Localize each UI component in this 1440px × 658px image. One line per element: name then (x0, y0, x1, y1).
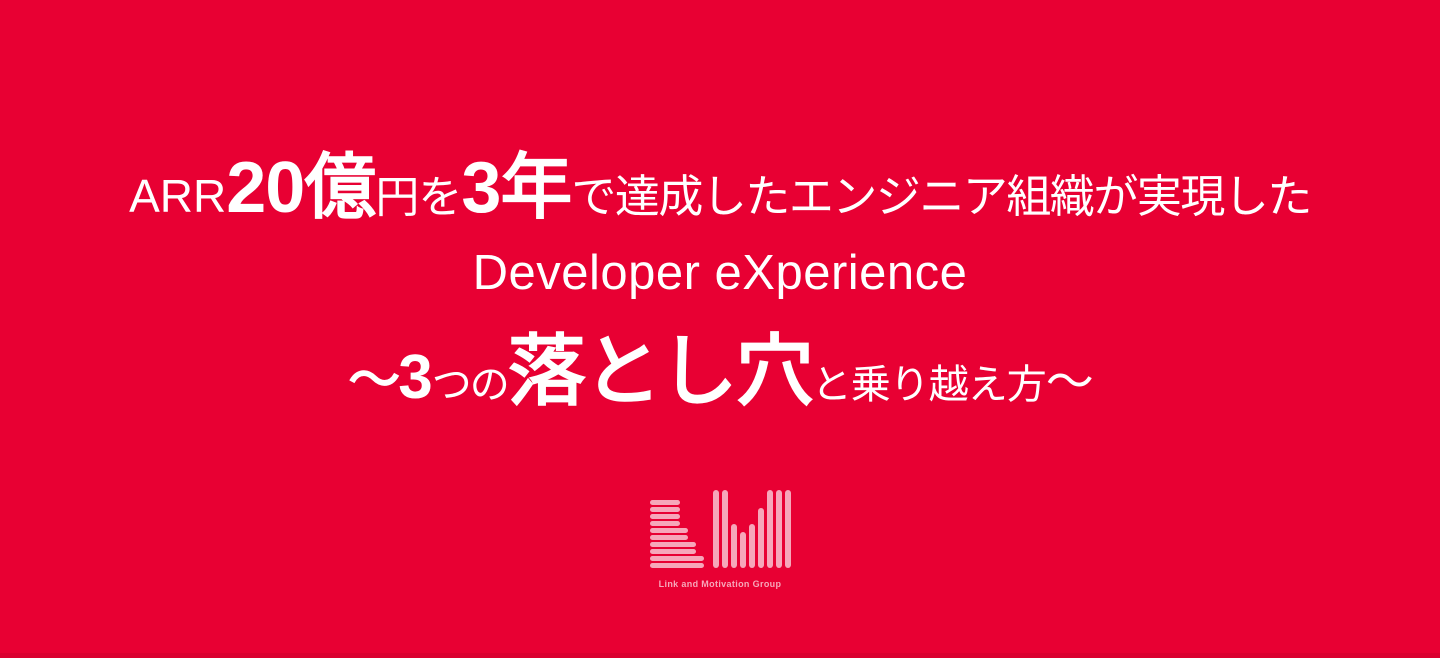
logo-l-bar-3 (650, 521, 680, 526)
title-line3-tail: と乗り越え方 (812, 363, 1046, 407)
logo-l-bar-2 (650, 514, 680, 519)
logo-m-bar-3 (740, 532, 746, 568)
logo-m-bar-0 (713, 490, 719, 568)
logo-m-bar-2 (731, 524, 737, 568)
bottom-edge-strip (0, 653, 1440, 658)
logo-l-bar-1 (650, 507, 680, 512)
title-line1-rest: で達成したエンジニア組織が実現した (571, 171, 1311, 222)
title-line1-prefix: ARR (129, 170, 226, 222)
title-line3-counter: つの (432, 363, 508, 407)
title-line1-unit: 円を (375, 173, 461, 222)
logo-l-bar-5 (650, 535, 688, 540)
logo-m-bar-8 (785, 490, 791, 568)
logo-letter-m (713, 484, 791, 568)
logo-caption: Link and Motivation Group (659, 579, 782, 589)
logo-m-bar-5 (758, 508, 764, 568)
logo-m-bar-7 (776, 490, 782, 568)
title-line3-keyword: 落とし穴 (508, 327, 812, 415)
title-line-1: ARR20億円を3年で達成したエンジニア組織が実現した (0, 148, 1440, 229)
logo-l-bar-0 (650, 500, 680, 505)
company-logo: Link and Motivation Group (0, 484, 1440, 589)
title-line3-count: 3 (398, 343, 431, 412)
title-line3-wave-open: ～ (348, 352, 398, 410)
lm-logo-icon (650, 484, 791, 568)
logo-l-bar-6 (650, 542, 696, 547)
title-line-2: Developer eXperience (0, 245, 1440, 301)
logo-l-bar-4 (650, 528, 688, 533)
title-line3-wave-close: ～ (1046, 356, 1092, 409)
presentation-slide: ARR20億円を3年で達成したエンジニア組織が実現した Developer eX… (0, 0, 1440, 658)
title-block: ARR20億円を3年で達成したエンジニア組織が実現した Developer eX… (0, 148, 1440, 417)
title-line-3: ～3つの落とし穴と乗り越え方～ (0, 327, 1440, 417)
title-line1-amount: 20億 (226, 148, 375, 228)
logo-l-bar-7 (650, 549, 696, 554)
logo-m-bar-1 (722, 490, 728, 568)
logo-m-bar-6 (767, 490, 773, 568)
logo-m-bar-4 (749, 524, 755, 568)
logo-l-bar-8 (650, 556, 704, 561)
logo-l-bar-9 (650, 563, 704, 568)
logo-letter-l (650, 484, 704, 568)
title-line1-years: 3年 (461, 148, 571, 228)
